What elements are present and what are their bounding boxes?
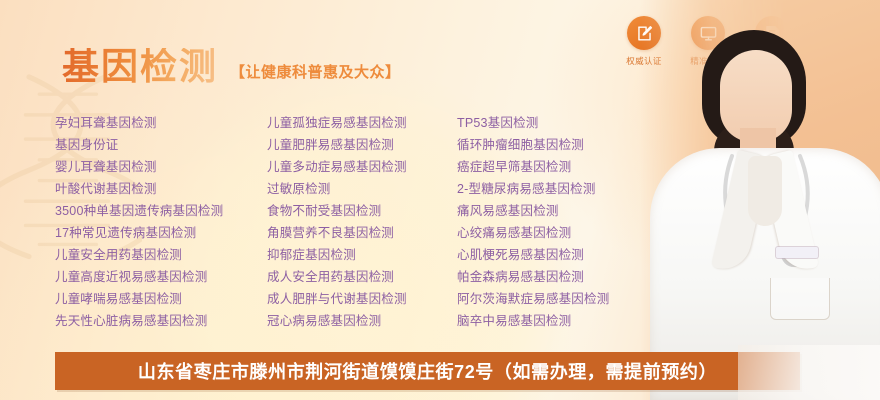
list-item[interactable]: 抑郁症基因检测 xyxy=(267,244,457,266)
list-item[interactable]: 角膜营养不良基因检测 xyxy=(267,222,457,244)
list-item[interactable]: 儿童肥胖易感基因检测 xyxy=(267,134,457,156)
service-column-1: 孕妇耳聋基因检测 基因身份证 婴儿耳聋基因检测 叶酸代谢基因检测 3500种单基… xyxy=(55,112,267,332)
badge-authority-certification[interactable]: 权威认证 xyxy=(620,16,668,67)
address-text: 山东省枣庄市滕州市荆河街道馍馍庄街72号（如需办理，需提前预约） xyxy=(138,358,717,384)
list-item[interactable]: 成人肥胖与代谢基因检测 xyxy=(267,288,457,310)
service-column-3: TP53基因检测 循环肿瘤细胞基因检测 癌症超早筛基因检测 2-型糖尿病易感基因… xyxy=(457,112,665,332)
list-item[interactable]: 循环肿瘤细胞基因检测 xyxy=(457,134,665,156)
list-item[interactable]: 过敏原检测 xyxy=(267,178,457,200)
list-item[interactable]: 痛风易感基因检测 xyxy=(457,200,665,222)
monitor-icon xyxy=(691,16,725,50)
badge-label: 精准分型 xyxy=(690,55,726,67)
list-item[interactable]: 心肌梗死易感基因检测 xyxy=(457,244,665,266)
list-item[interactable]: 儿童多动症易感基因检测 xyxy=(267,156,457,178)
list-item[interactable]: 先天性心脏病易感基因检测 xyxy=(55,310,267,332)
list-item[interactable]: 3500种单基因遗传病基因检测 xyxy=(55,200,267,222)
list-item[interactable]: 孕妇耳聋基因检测 xyxy=(55,112,267,134)
list-item[interactable]: 儿童安全用药基因检测 xyxy=(55,244,267,266)
badge-label: 权威认证 xyxy=(626,55,662,67)
list-item[interactable]: 儿童孤独症易感基因检测 xyxy=(267,112,457,134)
list-item[interactable]: 癌症超早筛基因检测 xyxy=(457,156,665,178)
list-item[interactable]: 婴儿耳聋基因检测 xyxy=(55,156,267,178)
stethoscope-icon xyxy=(702,150,830,270)
list-item[interactable]: 基因身份证 xyxy=(55,134,267,156)
list-item[interactable]: 2-型糖尿病易感基因检测 xyxy=(457,178,665,200)
service-column-2: 儿童孤独症易感基因检测 儿童肥胖易感基因检测 儿童多动症易感基因检测 过敏原检测… xyxy=(267,112,457,332)
poster-headline: 基因检测 【让健康科普惠及大众】 xyxy=(62,48,401,85)
list-item[interactable]: 食物不耐受基因检测 xyxy=(267,200,457,222)
page-title: 基因检测 xyxy=(62,48,218,85)
list-item[interactable]: 叶酸代谢基因检测 xyxy=(55,178,267,200)
list-item[interactable]: 冠心病易感基因检测 xyxy=(267,310,457,332)
address-banner: 山东省枣庄市滕州市荆河街道馍馍庄街72号（如需办理，需提前预约） xyxy=(55,352,800,390)
list-item[interactable]: TP53基因检测 xyxy=(457,112,665,134)
genetic-testing-poster: 基因检测 【让健康科普惠及大众】 权威认证 精准分型 xyxy=(0,0,880,400)
list-item[interactable]: 儿童高度近视易感基因检测 xyxy=(55,266,267,288)
list-item[interactable]: 成人安全用药基因检测 xyxy=(267,266,457,288)
list-item[interactable]: 脑卒中易感基因检测 xyxy=(457,310,665,332)
badge-precise-typing[interactable]: 精准分型 xyxy=(684,16,732,67)
badge-easy-self-check[interactable]: 轻松自检 xyxy=(748,16,796,67)
edit-certificate-icon xyxy=(627,16,661,50)
list-item[interactable]: 儿童哮喘易感基因检测 xyxy=(55,288,267,310)
badge-label: 轻松自检 xyxy=(754,55,790,67)
feature-badges: 权威认证 精准分型 轻松自检 xyxy=(620,16,796,67)
list-item[interactable]: 阿尔茨海默症易感基因检测 xyxy=(457,288,665,310)
document-icon xyxy=(755,16,789,50)
page-subtitle: 【让健康科普惠及大众】 xyxy=(230,61,401,85)
list-item[interactable]: 帕金森病易感基因检测 xyxy=(457,266,665,288)
list-item[interactable]: 心绞痛易感基因检测 xyxy=(457,222,665,244)
service-list-columns: 孕妇耳聋基因检测 基因身份证 婴儿耳聋基因检测 叶酸代谢基因检测 3500种单基… xyxy=(55,112,665,332)
list-item[interactable]: 17种常见遗传病基因检测 xyxy=(55,222,267,244)
